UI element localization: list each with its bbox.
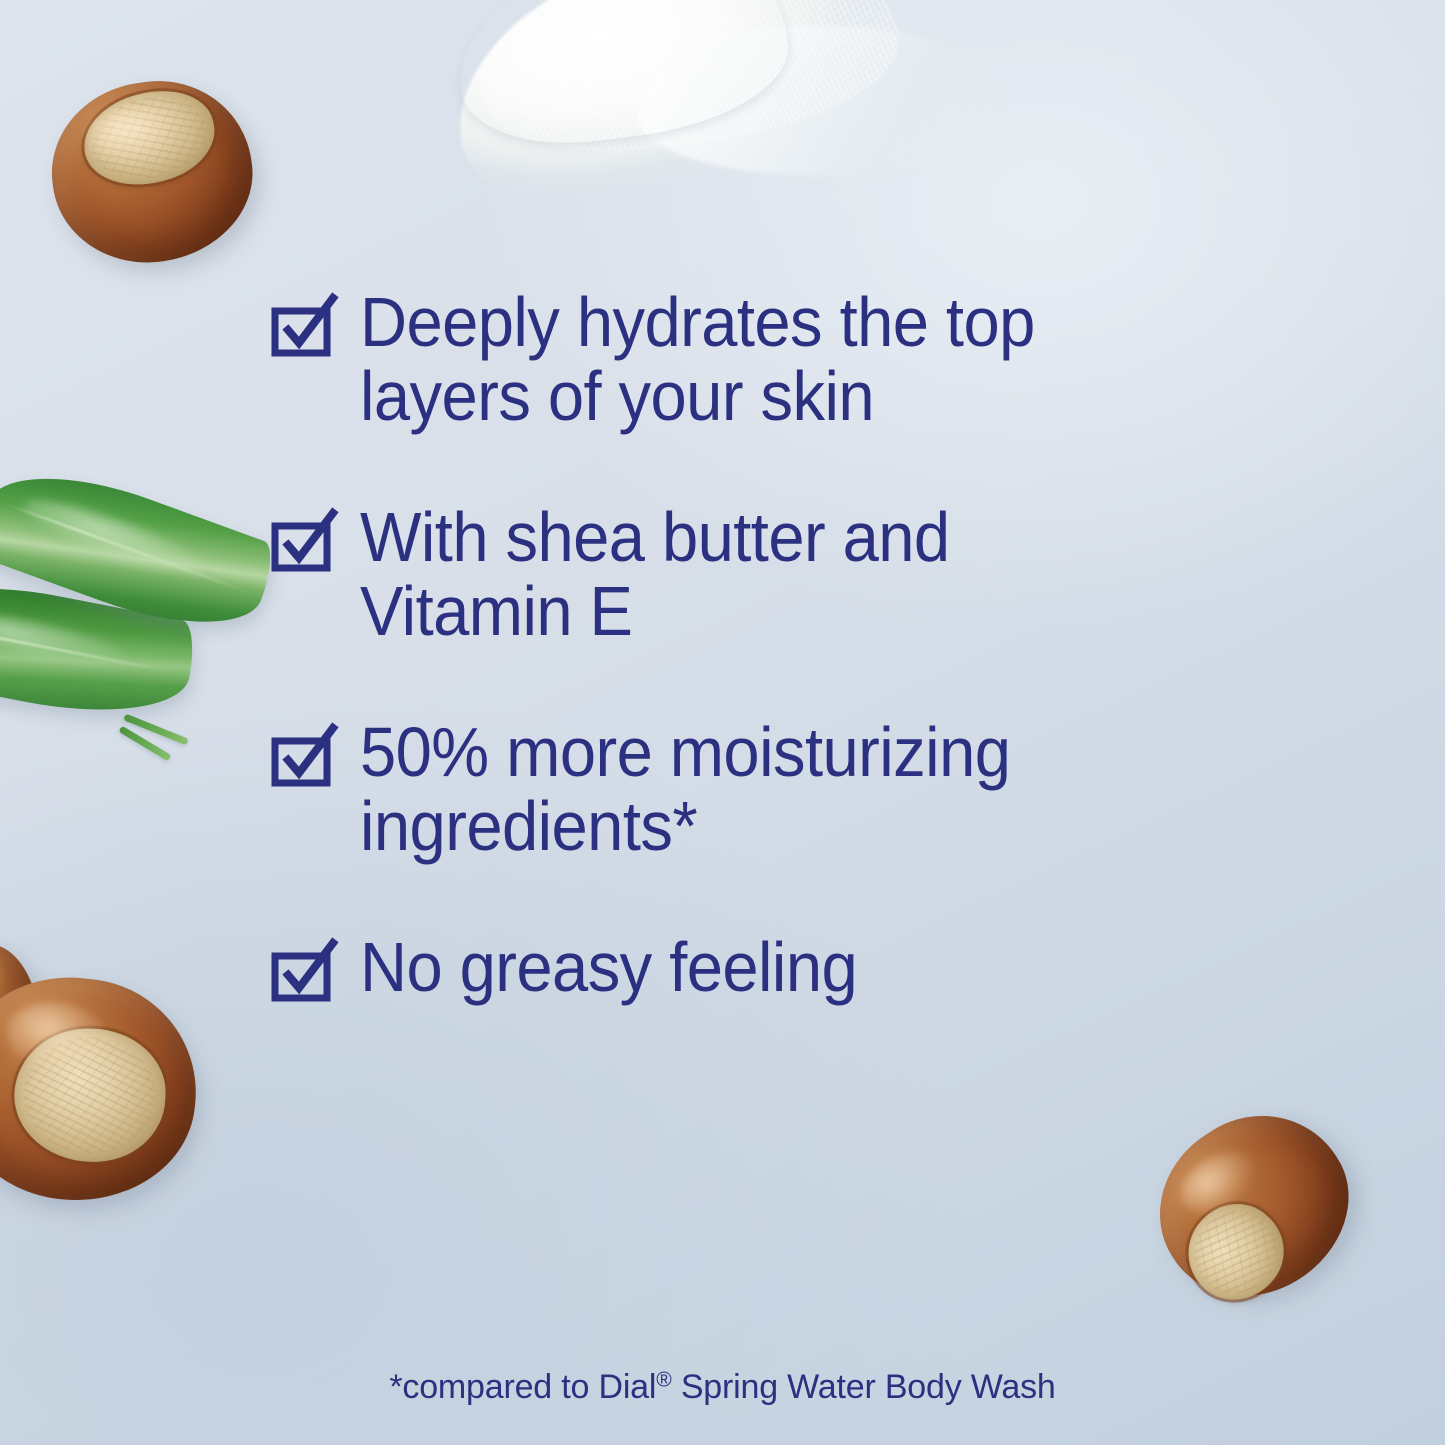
footnote: *compared to Dial® Spring Water Body Was…	[0, 1368, 1445, 1407]
nut-highlight	[1171, 1138, 1267, 1224]
leaf-sheen	[0, 601, 129, 675]
product-benefits-graphic: Deeply hydrates the top layers of your s…	[0, 0, 1445, 1445]
leaf-stem	[118, 726, 171, 762]
checkbox-checked-icon	[272, 515, 334, 577]
benefit-label: With shea butter and Vitamin E	[360, 501, 950, 648]
checkbox-checked-icon	[272, 300, 334, 362]
nut-shell	[1127, 1082, 1381, 1330]
nut-highlight	[0, 957, 4, 999]
leaf-upper	[0, 448, 280, 652]
benefit-label: No greasy feeling	[360, 931, 857, 1005]
nut-shell	[0, 936, 49, 1069]
cream-swatch	[441, 0, 989, 238]
benefit-item: With shea butter and Vitamin E	[272, 501, 1262, 648]
macadamia-nut-bottom-right-icon	[1127, 1082, 1381, 1330]
benefit-label: 50% more moisturizing ingredients*	[360, 716, 1010, 863]
cream-swatch-texture	[468, 0, 908, 168]
checkbox-checked-icon	[272, 730, 334, 792]
green-leaves-icon	[0, 488, 300, 788]
footnote-suffix: Spring Water Body Wash	[672, 1368, 1056, 1406]
cream-swatch-tail	[636, 19, 1001, 181]
benefit-label: Deeply hydrates the top layers of your s…	[360, 286, 1035, 433]
benefit-item: No greasy feeling	[272, 931, 1262, 1007]
nut-kernel	[13, 1026, 169, 1164]
benefit-item: Deeply hydrates the top layers of your s…	[272, 286, 1262, 433]
benefit-list: Deeply hydrates the top layers of your s…	[272, 286, 1262, 1007]
nut-highlight	[83, 101, 174, 166]
cream-swatch-body	[441, 0, 989, 238]
nut-kernel	[74, 78, 224, 197]
benefit-item: 50% more moisturizing ingredients*	[272, 716, 1262, 863]
leaf-vein	[0, 619, 172, 672]
nut-kernel	[1169, 1185, 1302, 1318]
checkbox-checked-icon	[272, 945, 334, 1007]
footnote-prefix: *compared to Dial	[389, 1368, 656, 1406]
leaf-stem	[123, 714, 189, 746]
macadamia-nut-top-left-icon	[40, 69, 263, 275]
leaf-lower	[0, 566, 200, 731]
leaf-sheen	[18, 487, 211, 588]
macadamia-nut-bottom-left-icon	[0, 966, 207, 1212]
cream-swatch-edge	[447, 0, 796, 157]
registered-trademark-icon: ®	[656, 1368, 671, 1391]
nut-shell	[0, 966, 207, 1212]
nut-shell	[40, 69, 263, 275]
nut-highlight	[3, 997, 112, 1074]
macadamia-nut-left-sliver-icon	[0, 936, 49, 1069]
leaf-vein	[6, 502, 247, 592]
